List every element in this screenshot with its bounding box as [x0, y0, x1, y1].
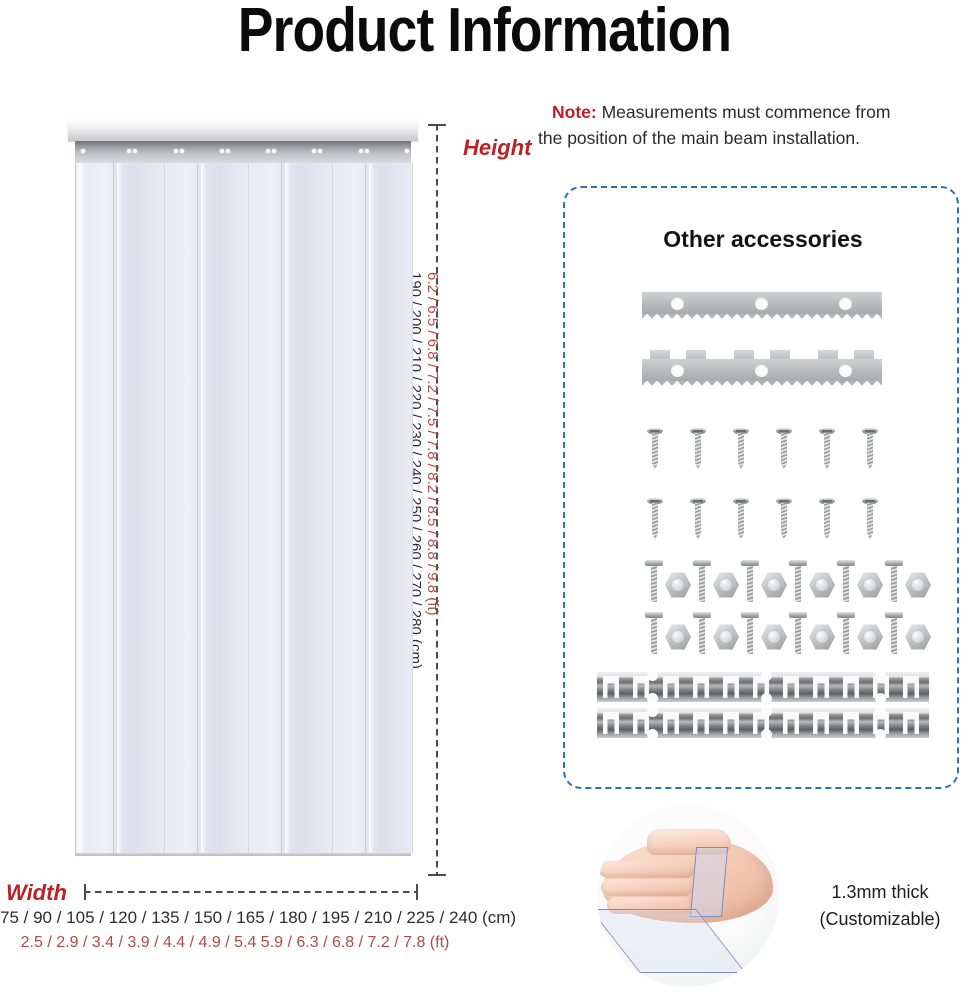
screw-shank [867, 433, 873, 470]
bolt [645, 612, 663, 656]
infographic-canvas: Product Information Note: Measurements m… [0, 0, 969, 1000]
rail-hole [761, 729, 772, 738]
hex-nut [713, 572, 739, 598]
width-values-ft: 2.5 / 2.9 / 3.4 / 3.9 / 4.4 / 4.9 / 5.4 … [0, 934, 470, 952]
height-label: Height [463, 135, 531, 161]
strip-highlight [285, 163, 290, 853]
note-lead-label: Note: [552, 102, 597, 122]
bolt [789, 612, 807, 656]
strip-mount-hole [226, 149, 230, 153]
screw-slot [650, 500, 660, 502]
note-line-1: Note: Measurements must commence from [538, 100, 969, 126]
screw-slot [865, 430, 875, 432]
bolt-shank [795, 618, 801, 654]
bolt [885, 612, 903, 656]
pvc-strip-curtain-illustration [68, 118, 418, 880]
rail-hole [647, 693, 658, 702]
strip-highlight [201, 163, 206, 853]
screw-slot [779, 430, 789, 432]
height-cap-top [428, 124, 446, 126]
screw [776, 428, 792, 476]
bolt-shank [843, 618, 849, 654]
width-cap-right [416, 884, 418, 900]
thickness-customizable: (Customizable) [792, 906, 968, 933]
bar-hole [671, 364, 684, 377]
strip-mount-hole [127, 149, 131, 153]
strip-mount-hole [405, 149, 409, 153]
strip-mount-hole [220, 149, 224, 153]
note-line-1-text: Measurements must commence from [597, 102, 891, 122]
thickness-value: 1.3mm thick [792, 879, 968, 906]
bar-tab-neck [670, 350, 686, 359]
bar-serrated-edge [642, 381, 882, 390]
bolt-shank [795, 566, 801, 602]
hanging-rail [597, 708, 929, 738]
screw-shank [695, 503, 701, 540]
curtain-strip [281, 163, 333, 853]
screw [862, 498, 878, 546]
curtain-strips-group [75, 163, 411, 853]
finger [599, 861, 695, 878]
bar-tab-neck [838, 350, 854, 359]
curtain-bottom-edge [75, 853, 411, 856]
bolt [645, 560, 663, 604]
bar-hole [839, 297, 852, 310]
hex-nut [905, 624, 931, 650]
screw-shank [695, 433, 701, 470]
bar-hole [755, 364, 768, 377]
height-cap-bottom [428, 874, 446, 876]
strip-mount-hole [312, 149, 316, 153]
height-values: 6.2 / 6.5 / 6.8 / 7.2 / 7.5 / 7.8 / 8.2 … [411, 272, 441, 742]
note-block: Note: Measurements must commence from th… [538, 100, 969, 151]
screw [690, 498, 706, 546]
bolt [789, 560, 807, 604]
rail-hole [761, 693, 772, 702]
nut-bore [672, 631, 684, 643]
bolt-shank [699, 566, 705, 602]
bar-tab-neck [754, 350, 770, 359]
bar-hole [755, 297, 768, 310]
nut-bore [720, 631, 732, 643]
bolt-shank [891, 566, 897, 602]
hex-nut [761, 624, 787, 650]
curtain-header-band [75, 141, 411, 163]
hex-nut [665, 572, 691, 598]
bar-hole [671, 297, 684, 310]
screw [733, 428, 749, 476]
nut-bore [672, 579, 684, 591]
bar-hole [839, 364, 852, 377]
bolt-shank [843, 566, 849, 602]
screw [733, 498, 749, 546]
nut-bore [912, 579, 924, 591]
screw-slot [822, 430, 832, 432]
curtain-strip [113, 163, 165, 853]
screw [862, 428, 878, 476]
bar-serrated-edge [642, 314, 882, 323]
hex-nut [809, 572, 835, 598]
nut-bore [864, 631, 876, 643]
hex-nut [761, 572, 787, 598]
curtain-top-rail [68, 118, 418, 141]
nut-bore [816, 579, 828, 591]
strip-mount-hole [359, 149, 363, 153]
hex-nut [665, 624, 691, 650]
screw-shank [652, 503, 658, 540]
screw [819, 498, 835, 546]
screw-slot [822, 500, 832, 502]
screw-shank [824, 433, 830, 470]
page-title: Product Information [68, 0, 901, 66]
bolt-shank [651, 618, 657, 654]
strip-mount-hole [81, 149, 85, 153]
hex-nut [857, 624, 883, 650]
height-values-ft: 6.2 / 6.5 / 6.8 / 7.2 / 7.5 / 7.8 / 8.2 … [424, 272, 441, 742]
accessories-panel: Other accessories [563, 186, 959, 789]
bolt-shank [651, 566, 657, 602]
curtain-strip [365, 163, 413, 853]
finger [601, 879, 693, 896]
strip-mount-hole [180, 149, 184, 153]
bolt-shank [747, 566, 753, 602]
bolt-shank [891, 618, 897, 654]
strip-mount-hole [272, 149, 276, 153]
curtain-strip [197, 163, 249, 853]
screw-shank [738, 503, 744, 540]
strip-mount-hole [266, 149, 270, 153]
screw [776, 498, 792, 546]
width-cap-left [84, 884, 86, 900]
bolt-shank [747, 618, 753, 654]
strip-highlight [369, 163, 374, 853]
mounting-bar-serrated [642, 292, 882, 323]
screw-slot [650, 430, 660, 432]
strip-mount-hole [174, 149, 178, 153]
hex-nut [857, 572, 883, 598]
screw-shank [781, 503, 787, 540]
bolt [741, 612, 759, 656]
clear-pvc-strip-held [690, 847, 728, 917]
screw-slot [865, 500, 875, 502]
hex-nut [713, 624, 739, 650]
screw-slot [693, 430, 703, 432]
width-dimension-line [84, 891, 418, 893]
bolt-shank [699, 618, 705, 654]
width-values-cm: 75 / 90 / 105 / 120 / 135 / 150 / 165 / … [0, 908, 470, 928]
bolt [693, 560, 711, 604]
hanging-rail [597, 672, 929, 702]
nut-bore [864, 579, 876, 591]
bolt [693, 612, 711, 656]
nut-bore [912, 631, 924, 643]
nut-bore [768, 631, 780, 643]
screw-shank [781, 433, 787, 470]
screw [690, 428, 706, 476]
width-label: Width [6, 880, 67, 906]
screw [647, 428, 663, 476]
screw-slot [779, 500, 789, 502]
nut-bore [816, 631, 828, 643]
strip-highlight [117, 163, 122, 853]
screw [819, 428, 835, 476]
screw-shank [652, 433, 658, 470]
mounting-bar-tabbed [642, 359, 882, 390]
note-line-2: the position of the main beam installati… [538, 126, 969, 152]
thickness-caption: 1.3mm thick (Customizable) [792, 879, 968, 933]
bolt [837, 612, 855, 656]
screw-slot [736, 500, 746, 502]
accessories-title: Other accessories [565, 226, 961, 253]
nut-bore [720, 579, 732, 591]
screw [647, 498, 663, 546]
bolt [741, 560, 759, 604]
screw-slot [693, 500, 703, 502]
screw-shank [867, 503, 873, 540]
rail-hole [647, 729, 658, 738]
nut-bore [768, 579, 780, 591]
bolt [837, 560, 855, 604]
screw-slot [736, 430, 746, 432]
hex-nut [809, 624, 835, 650]
bolt [885, 560, 903, 604]
strip-mount-hole [318, 149, 322, 153]
screw-shank [824, 503, 830, 540]
rail-hole [875, 693, 886, 702]
strip-thickness-photo [597, 805, 779, 987]
strip-highlight [79, 163, 84, 853]
rail-hole [875, 729, 886, 738]
strip-mount-hole [133, 149, 137, 153]
strip-mount-hole [365, 149, 369, 153]
hex-nut [905, 572, 931, 598]
screw-shank [738, 433, 744, 470]
